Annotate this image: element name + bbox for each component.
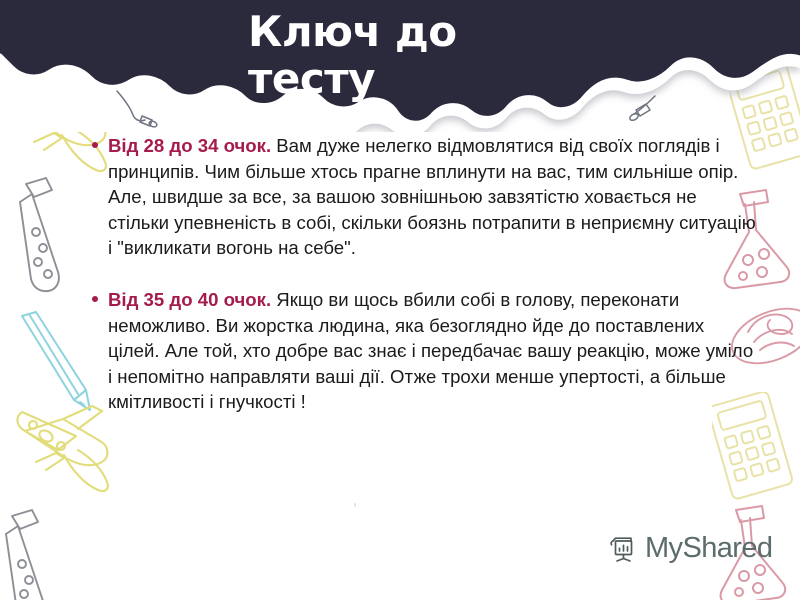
test-tube-doodle [12, 176, 78, 300]
bullet-dot-icon [92, 296, 98, 302]
title-container: Ключ до тесту [248, 8, 668, 102]
list-item: Від 35 до 40 очок. Якщо ви щось вбили со… [86, 287, 758, 415]
pencil-doodle [10, 310, 96, 420]
myshared-watermark: MyShared [608, 532, 772, 565]
bullet-lead: Від 28 до 34 очок. [108, 135, 271, 156]
test-tube-doodle [0, 508, 64, 600]
stray-mark: , [353, 496, 359, 506]
content-body: Від 28 до 34 очок. Вам дуже нелегко відм… [86, 133, 758, 415]
list-item: Від 28 до 34 очок. Вам дуже нелегко відм… [86, 133, 758, 261]
bullet-lead: Від 35 до 40 очок. [108, 289, 271, 310]
page-title: Ключ до тесту [248, 8, 668, 102]
slide-canvas: Ключ до тесту Від 28 до 34 очок. Вам дуж… [0, 0, 800, 600]
watermark-label: MyShared [645, 532, 772, 565]
bullet-list: Від 28 до 34 очок. Вам дуже нелегко відм… [86, 133, 758, 415]
presentation-chart-icon [608, 534, 638, 564]
bullet-dot-icon [92, 142, 98, 148]
